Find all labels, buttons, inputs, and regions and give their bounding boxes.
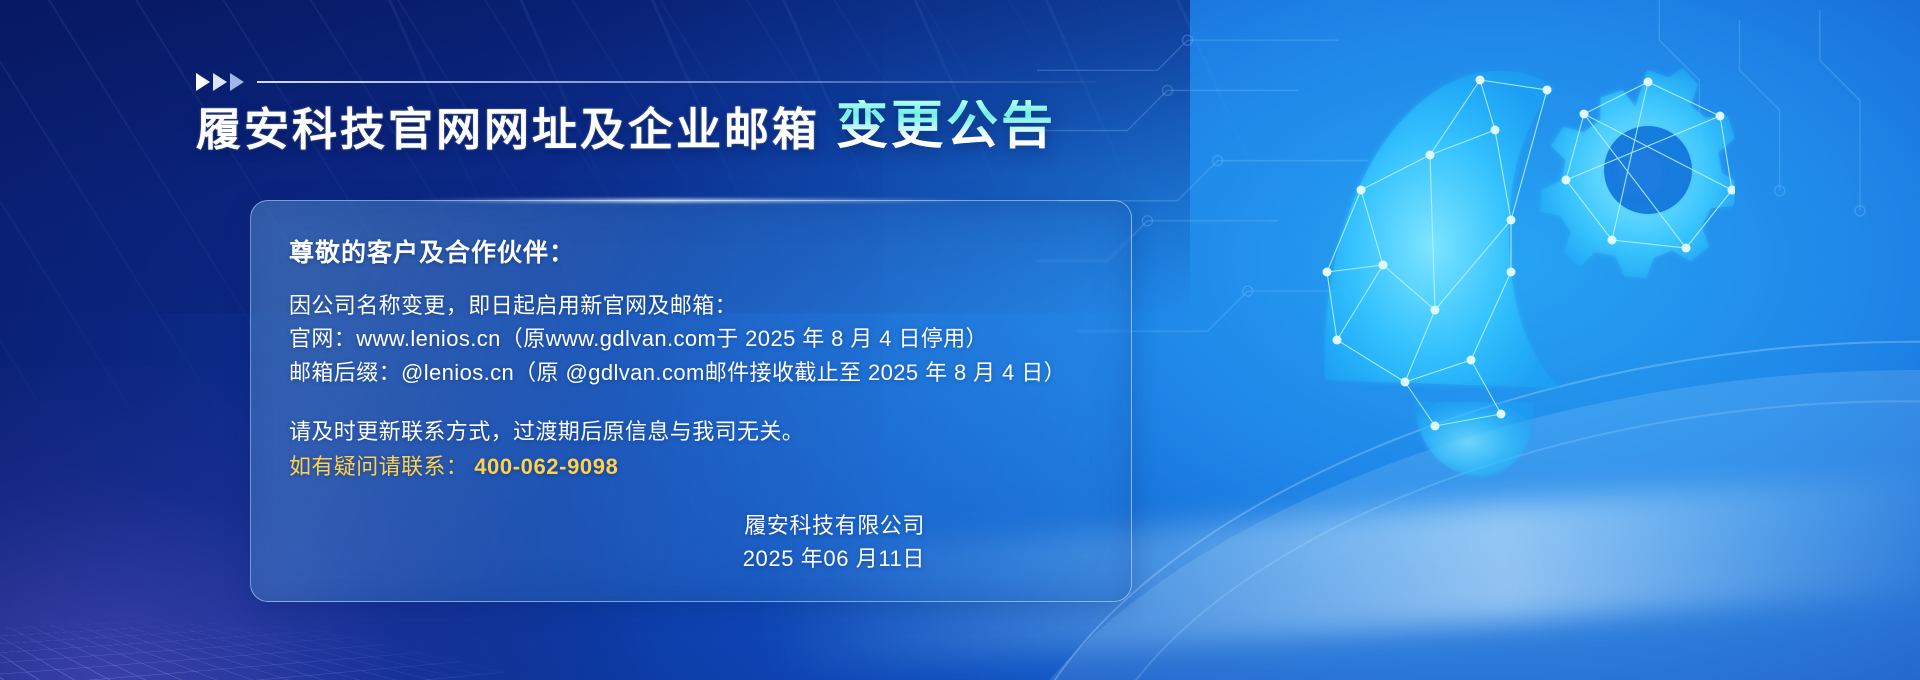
page-title: 履安科技官网网址及企业邮箱 变更公告 <box>196 100 1096 152</box>
announcement-banner: 履安科技官网网址及企业邮箱 变更公告 尊敬的客户及合作伙伴： 因公司名称变更，即… <box>0 0 1920 680</box>
page-title-accent: 变更公告 <box>836 100 1056 152</box>
signature-block: 履安科技有限公司 2025 年06 月11日 <box>289 509 1097 575</box>
notice-text: 请及时更新联系方式，过渡期后原信息与我司无关。 <box>289 415 1097 448</box>
announcement-card-content: 尊敬的客户及合作伙伴： 因公司名称变更，即日起启用新官网及邮箱： 官网：www.… <box>289 233 1097 575</box>
body-line-website: 官网：www.lenios.cn（原www.gdlvan.com于 2025 年… <box>289 322 1097 355</box>
hotline-label: 如有疑问请联系： <box>289 454 468 479</box>
headline-block: 履安科技官网网址及企业邮箱 变更公告 <box>196 72 1096 152</box>
hotline-row: 如有疑问请联系：400-062-9098 <box>289 449 1097 481</box>
body-line-email: 邮箱后缀：@lenios.cn（原 @gdlvan.com邮件接收截止至 202… <box>289 356 1097 389</box>
header-divider-line <box>257 81 1096 83</box>
signature-date: 2025 年06 月11日 <box>289 542 925 575</box>
triangle-arrow-icon <box>196 73 210 91</box>
announcement-card: 尊敬的客户及合作伙伴： 因公司名称变更，即日起启用新官网及邮箱： 官网：www.… <box>250 200 1132 602</box>
arrow-rule-decor <box>196 72 1096 92</box>
triangle-arrow-icon <box>230 73 244 91</box>
content-spacer <box>289 389 1097 415</box>
body-line-reason: 因公司名称变更，即日起启用新官网及邮箱： <box>289 289 1097 322</box>
signature-company: 履安科技有限公司 <box>289 509 925 542</box>
page-title-main: 履安科技官网网址及企业邮箱 <box>196 107 820 152</box>
salutation-text: 尊敬的客户及合作伙伴： <box>289 233 1097 269</box>
bell-gear-network-icon <box>1265 10 1735 510</box>
hotline-number[interactable]: 400-062-9098 <box>474 454 618 479</box>
triangle-arrow-icon <box>213 73 227 91</box>
